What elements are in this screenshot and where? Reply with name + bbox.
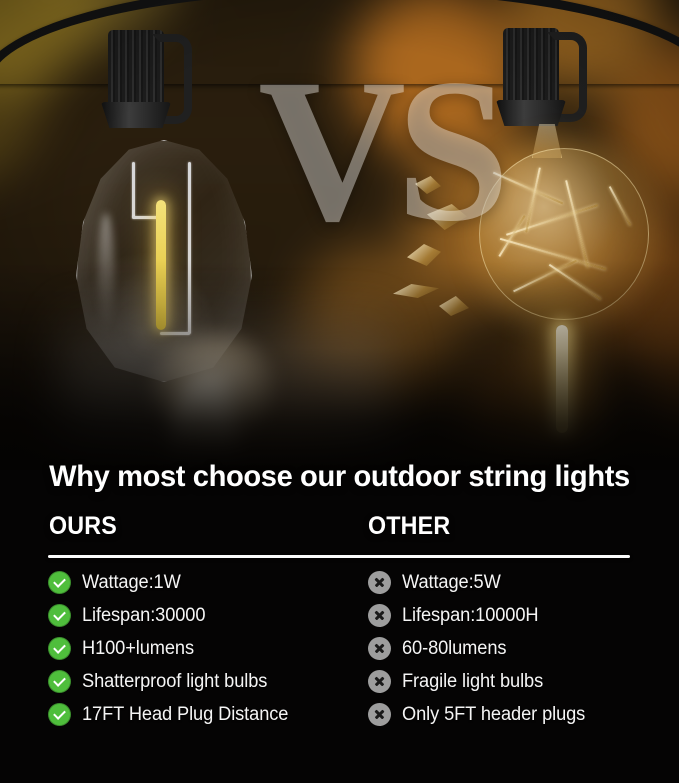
table-row: Wattage:1W Wattage:5W [0,566,679,599]
other-item-label: Wattage:5W [402,572,501,594]
cross-circle-icon [368,637,391,660]
list-item-ours: 17FT Head Plug Distance [48,698,297,731]
cross-circle-icon [368,670,391,693]
list-item-other: Only 5FT header plugs [368,698,593,731]
column-header-ours: OURS [49,512,117,541]
list-item-other: Wattage:5W [368,566,505,599]
photo-bottom-fade [0,260,679,470]
check-circle-icon [48,604,71,627]
table-row: 17FT Head Plug Distance Only 5FT header … [0,698,679,731]
table-row: H100+lumens 60-80lumens [0,632,679,665]
other-item-label: 60-80lumens [402,638,506,660]
ours-item-label: Lifespan:30000 [82,605,205,627]
list-item-other: 60-80lumens [368,632,511,665]
check-circle-icon [48,703,71,726]
list-item-other: Lifespan:10000H [368,599,544,632]
list-item-ours: H100+lumens [48,632,199,665]
table-row: Shatterproof light bulbs Fragile light b… [0,665,679,698]
other-item-label: Fragile light bulbs [402,671,543,693]
panel-headline: Why most choose our outdoor string light… [10,460,669,494]
check-circle-icon [48,670,71,693]
header-divider [48,555,630,558]
column-headers: OURS OTHER [0,512,679,546]
list-item-other: Fragile light bulbs [368,665,549,698]
comparison-panel: Why most choose our outdoor string light… [0,440,679,783]
ours-item-label: Shatterproof light bulbs [82,671,267,693]
cross-circle-icon [368,703,391,726]
list-item-ours: Wattage:1W [48,566,185,599]
ours-item-label: H100+lumens [82,638,194,660]
list-item-ours: Lifespan:30000 [48,599,211,632]
other-item-label: Only 5FT header plugs [402,704,585,726]
comparison-rows: Wattage:1W Wattage:5W Lifespan:30000 Lif… [0,566,679,731]
hero-photo: VS [0,0,679,470]
ours-item-label: Wattage:1W [82,572,181,594]
column-header-other: OTHER [368,512,450,541]
check-circle-icon [48,637,71,660]
table-row: Lifespan:30000 Lifespan:10000H [0,599,679,632]
list-item-ours: Shatterproof light bulbs [48,665,275,698]
cross-circle-icon [368,571,391,594]
cross-circle-icon [368,604,391,627]
product-comparison-infographic: VS Why most choose our outdoor string li… [0,0,679,783]
ours-item-label: 17FT Head Plug Distance [82,704,288,726]
other-item-label: Lifespan:10000H [402,605,538,627]
check-circle-icon [48,571,71,594]
